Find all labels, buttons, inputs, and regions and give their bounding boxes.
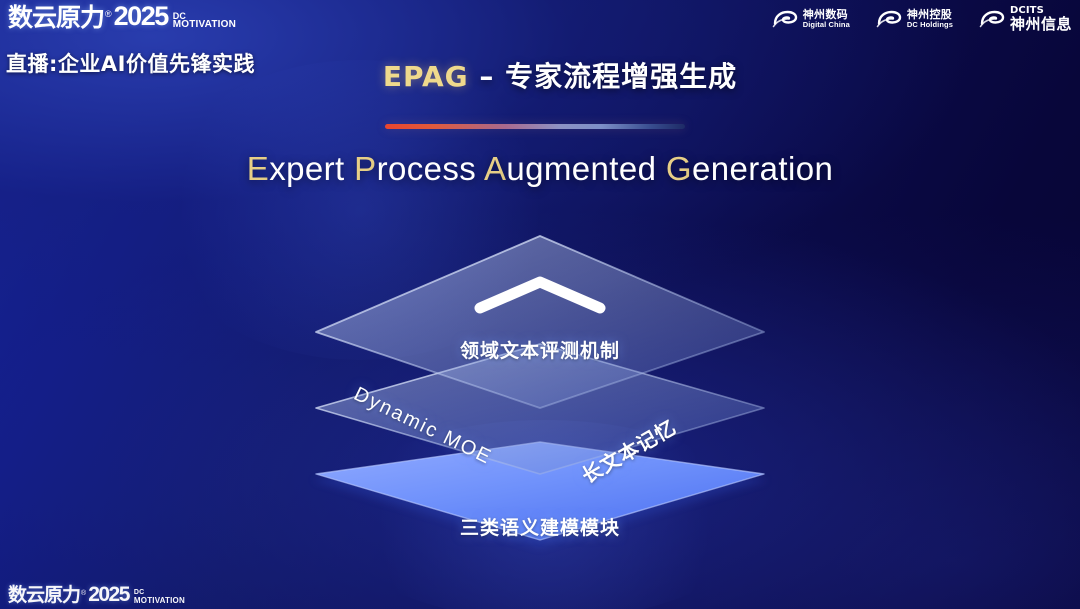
slide-stage: 数云原力 ® 2025 DC MOTIVATION 神州数码 Digital C… (0, 0, 1080, 609)
watermark-dc-line2: MOTIVATION (134, 597, 185, 604)
watermark-logo-dc: DC MOTIVATION (134, 590, 185, 604)
footer-watermark-logo: 数云原力 ® 2025 DC MOTIVATION (8, 3, 1070, 605)
watermark-logo-cn: 数云原力 (8, 586, 80, 605)
watermark-registered-mark: ® (81, 590, 86, 597)
watermark-logo-year: 2025 (88, 584, 129, 605)
